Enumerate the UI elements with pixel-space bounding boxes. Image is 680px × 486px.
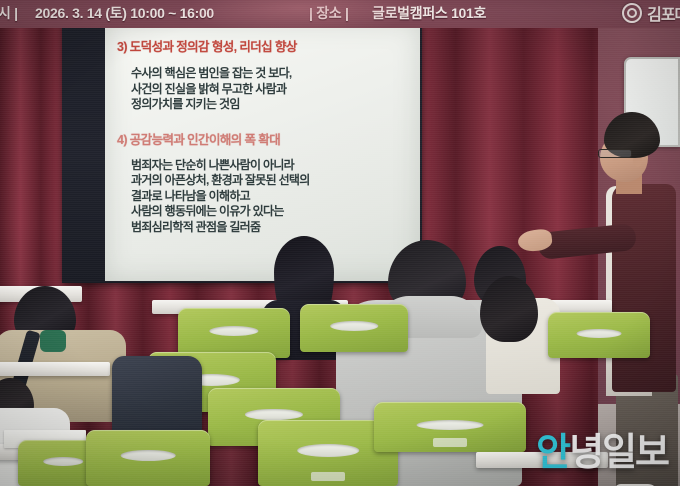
slide-heading-3: 3) 도덕성과 정의감 형성, 리더십 향상 (117, 36, 410, 55)
chair-back-1[interactable] (178, 308, 290, 358)
slide-body-4-line-2: 과거의 아픈상처, 환경과 잘못된 선택의 (117, 173, 410, 189)
slide-heading-4: 4) 공감능력과 인간이해의 폭 확대 (117, 129, 410, 148)
slide-body-3-line-2: 사건의 진실을 밝혀 무고한 사람과 (117, 82, 410, 98)
slide-body-3-line-1: 수사의 핵심은 범인을 잡는 것 보다, (117, 66, 410, 82)
chair-handle-slot (417, 420, 484, 430)
banner-place-value: 글로벌캠퍼스 101호 (372, 3, 486, 23)
event-banner: 시 | 2026. 3. 14 (토) 10:00 ~ 16:00 | 장소 |… (0, 0, 680, 28)
chair-front-4[interactable] (374, 402, 526, 452)
chair-back-3[interactable] (548, 312, 650, 358)
slide-body-4-line-3: 결과로 나타남을 이해하고 (117, 189, 410, 205)
banner-datetime: 2026. 3. 14 (토) 10:00 ~ 16:00 (35, 3, 214, 23)
presenter-jacket (612, 184, 676, 392)
chair-handle-slot (209, 326, 258, 336)
chair-handle-slot (297, 444, 359, 457)
chair-front-2[interactable] (86, 430, 210, 486)
slide-body-4-line-1: 범죄자는 단순히 나쁜사람이 아니라 (117, 158, 410, 174)
press-watermark: 안녕일보 (536, 434, 668, 472)
watermark-accent-char: 안 (536, 432, 569, 474)
chair-handle-slot (43, 457, 83, 466)
presenter-glasses (598, 149, 632, 158)
chair-back-2[interactable] (300, 304, 408, 352)
slide-body-4-line-5: 범죄심리학적 관점을 길러줌 (117, 220, 410, 236)
projection-screen: 3) 도덕성과 정의감 형성, 리더십 향상 수사의 핵심은 범인을 잡는 것 … (105, 22, 420, 281)
chair-handle-slot (121, 450, 176, 461)
banner-place-label: | 장소 | (309, 3, 349, 23)
chair-handle-slot (330, 321, 378, 331)
chair-brand-tag (433, 438, 467, 447)
circular-emblem-icon (622, 3, 642, 23)
chair-brand-tag (311, 472, 345, 481)
student-scarf-left (40, 330, 66, 352)
slide-body-3-line-3: 정의가치를 지키는 것임 (117, 97, 410, 113)
chair-handle-slot (245, 409, 303, 421)
chair-handle-slot (577, 329, 622, 338)
banner-time-label: 시 | (0, 3, 18, 23)
university-name: 김포대학 (647, 1, 680, 25)
photo-canvas: 3) 도덕성과 정의감 형성, 리더십 향상 수사의 핵심은 범인을 잡는 것 … (0, 0, 680, 486)
backpack-on-chair (112, 356, 202, 440)
watermark-rest: 녕일보 (569, 432, 668, 474)
university-logo: 김포대학 (622, 1, 680, 25)
slide-body-4-line-4: 사람의 행동뒤에는 이유가 있다는 (117, 204, 410, 220)
desk-mid-left (0, 362, 110, 376)
